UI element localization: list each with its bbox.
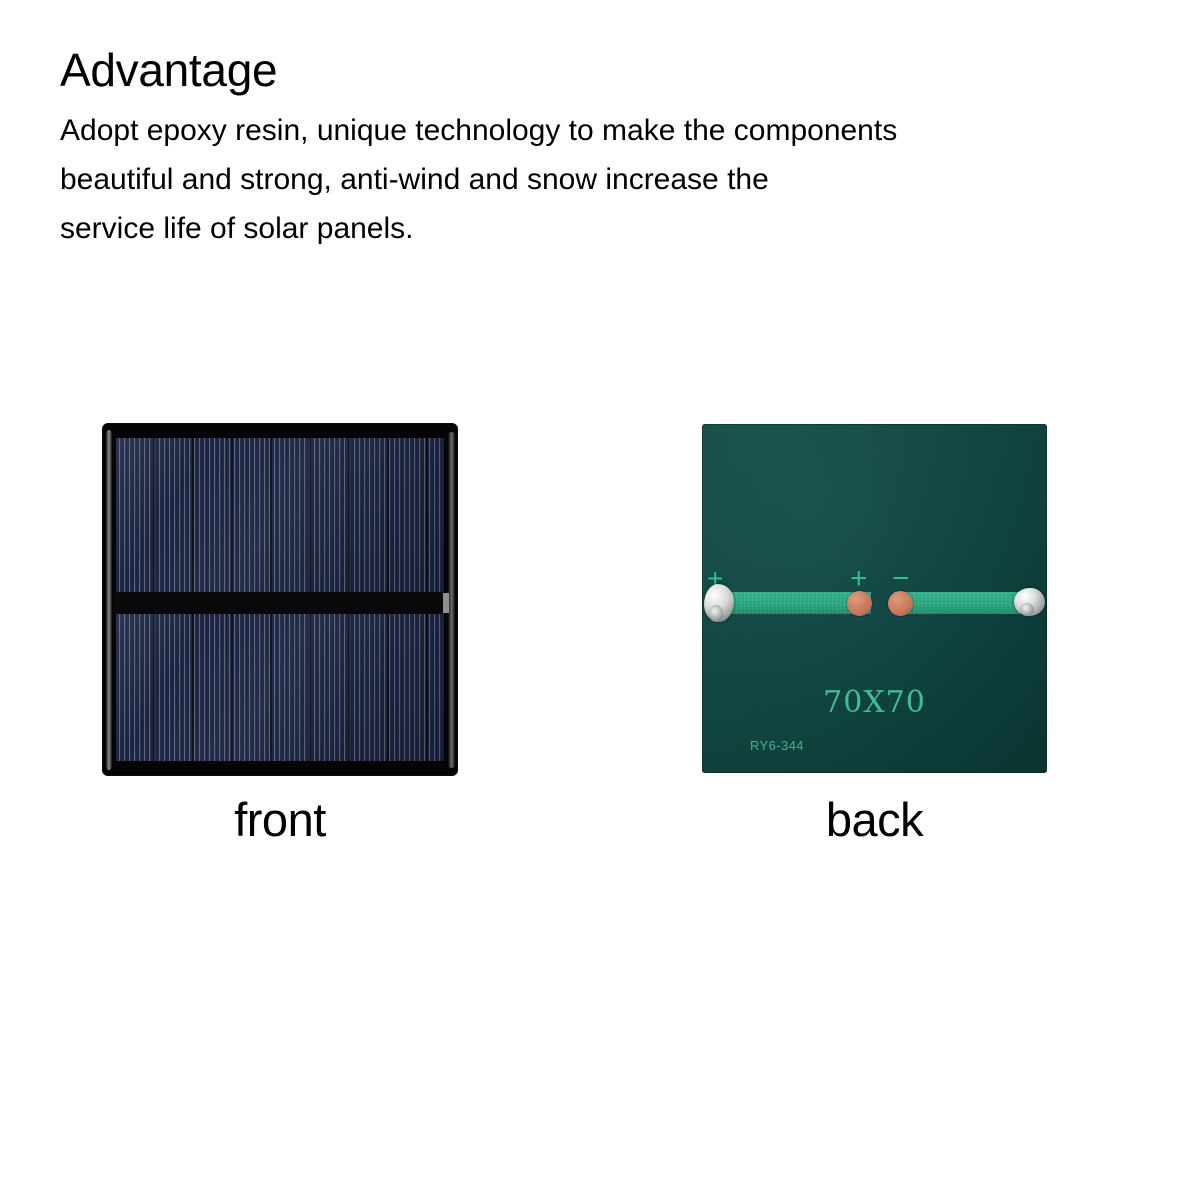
back-panel-figure: + + − 70X70 RY6-344 back: [702, 424, 1047, 854]
panel-size-label: 70X70: [702, 685, 1047, 720]
busbar-strip: [113, 592, 447, 614]
solder-nub: [709, 605, 723, 622]
solder-blob-right-icon: [1014, 588, 1045, 616]
polarity-plus-icon: +: [850, 564, 868, 594]
polarity-minus-icon: −: [892, 564, 910, 594]
solder-nub: [1020, 603, 1034, 616]
page-title: Advantage: [60, 42, 1140, 98]
solar-cell-upper-half: [116, 438, 444, 596]
front-panel-figure: front: [103, 424, 457, 854]
cell-glare-overlay: [116, 611, 444, 761]
solar-cell-lower-half: [116, 611, 444, 761]
front-caption: front: [103, 792, 457, 848]
advantage-text-block: Advantage Adopt epoxy resin, unique tech…: [60, 42, 1140, 253]
back-caption: back: [702, 792, 1047, 848]
cell-glare-overlay: [116, 438, 444, 596]
solar-panel-back-image: + + − 70X70 RY6-344: [702, 424, 1047, 773]
panel-part-code-label: RY6-344: [750, 738, 804, 753]
solar-panel-front-image: [103, 424, 457, 775]
advantage-description: Adopt epoxy resin, unique technology to …: [60, 106, 1115, 253]
